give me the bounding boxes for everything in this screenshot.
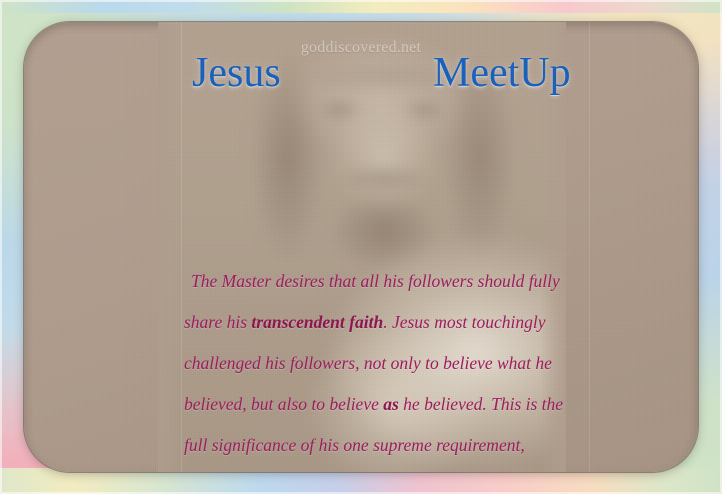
quote-line-4: believed, but also to believe as he beli… — [184, 384, 588, 425]
poster-frame: goddiscovered.net Jesus MeetUp The Maste… — [0, 0, 722, 494]
quote-line-2-part-b: . Jesus most touchingly — [383, 312, 545, 332]
rainbow-band-top — [0, 0, 722, 13]
quote-line-4-part-a: believed, but also to believe — [184, 394, 383, 414]
title-row: Jesus MeetUp — [24, 52, 698, 104]
quote-emphasis-transcendent-faith: transcendent faith — [251, 312, 383, 332]
title-meetup: MeetUp — [433, 52, 571, 94]
quote-line-3: challenged his followers, not only to be… — [184, 343, 588, 384]
quote-line-1: The Master desires that all his follower… — [184, 261, 588, 302]
quote-line-2-part-a: share his — [184, 312, 251, 332]
quote-line-5: full significance of his one supreme req… — [184, 425, 588, 466]
quote-line-2: share his transcendent faith. Jesus most… — [184, 302, 588, 343]
quote-line-6-citation: "Follow me." 196:0.13 — [184, 466, 588, 472]
inner-content-panel: goddiscovered.net Jesus MeetUp The Maste… — [24, 22, 698, 472]
quote-block: The Master desires that all his follower… — [184, 261, 588, 472]
quote-line-4-part-b: he believed. This is the — [399, 394, 563, 414]
title-jesus: Jesus — [192, 52, 281, 94]
quote-emphasis-as: as — [383, 394, 399, 414]
